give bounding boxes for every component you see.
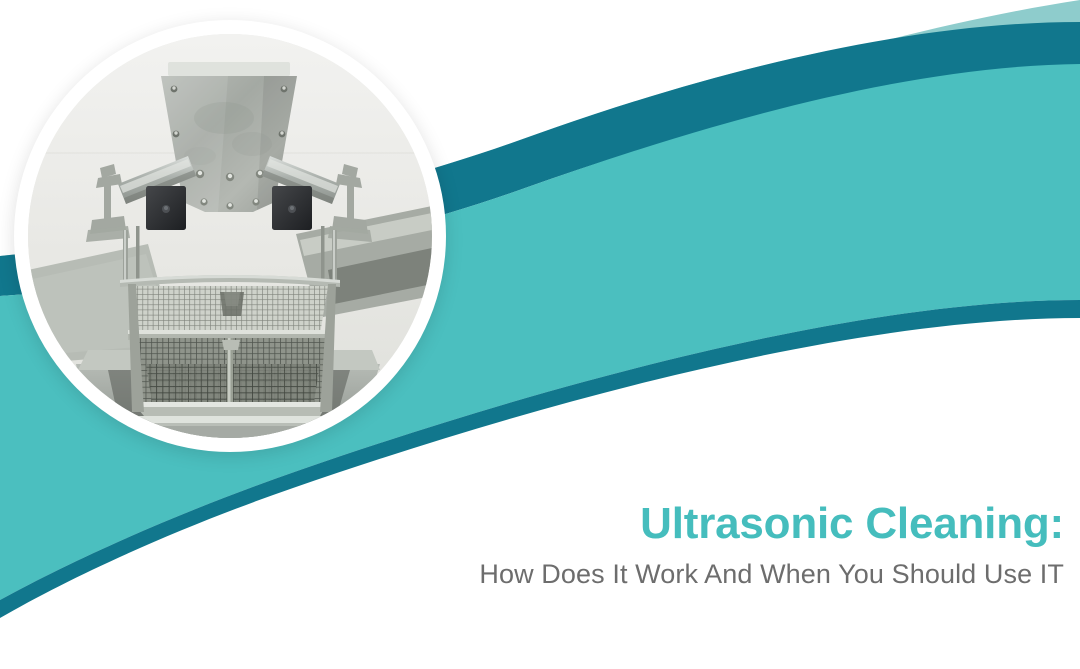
title-block: Ultrasonic Cleaning: How Does It Work An… (0, 498, 1064, 590)
photo-circle-clip (28, 34, 432, 438)
banner-canvas: Ultrasonic Cleaning: How Does It Work An… (0, 0, 1080, 669)
ultrasonic-cleaner-photo (28, 34, 432, 438)
photo-circle (14, 20, 446, 452)
page-subtitle: How Does It Work And When You Should Use… (0, 558, 1064, 590)
page-title: Ultrasonic Cleaning: (0, 498, 1064, 550)
